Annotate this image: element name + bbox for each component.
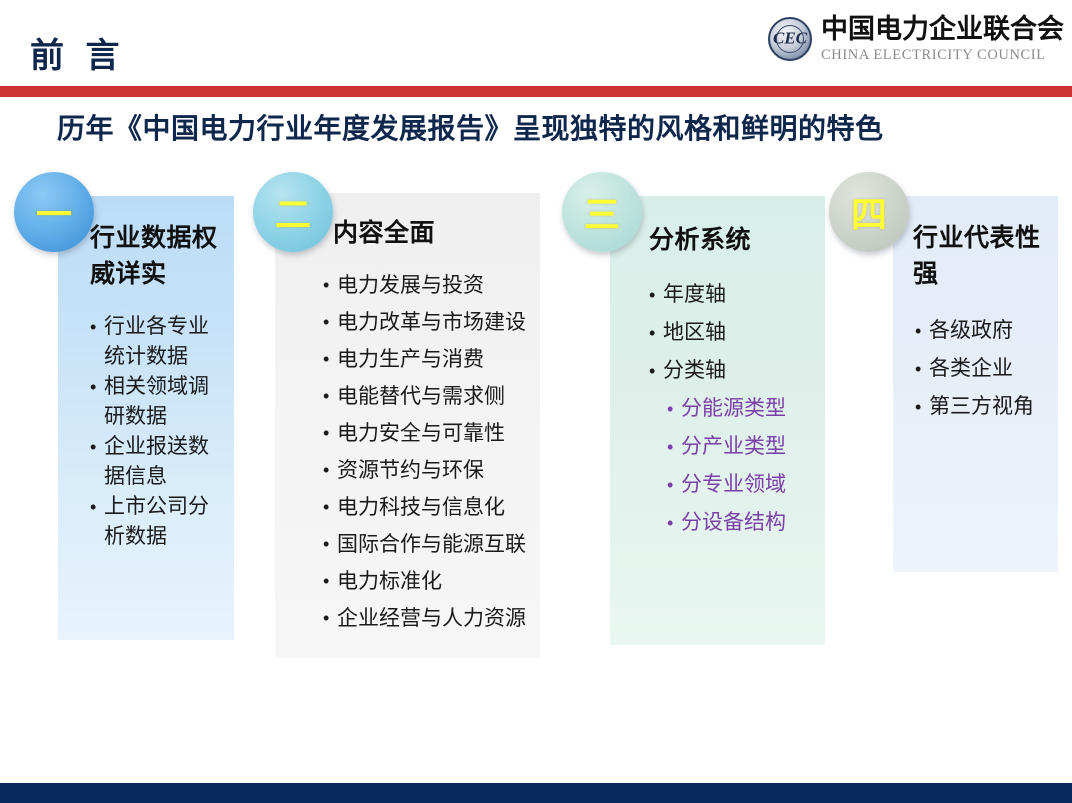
list-item: 分类轴	[649, 352, 817, 390]
feature-panel-4: 行业代表性强 各级政府各类企业第三方视角	[893, 196, 1058, 572]
feature-panel-2: 内容全面 电力发展与投资电力改革与市场建设电力生产与消费电能替代与需求侧电力安全…	[275, 193, 540, 658]
list-item: 电力标准化	[323, 563, 532, 600]
list-item: 企业报送数据信息	[90, 432, 226, 492]
list-item: 资源节约与环保	[323, 452, 532, 489]
list-item: 电力生产与消费	[323, 341, 532, 378]
logo-text: 中国电力企业联合会 CHINA ELECTRICITY COUNCIL	[821, 14, 1064, 64]
number-badge-4: 四	[829, 172, 909, 252]
list-item: 电力改革与市场建设	[323, 304, 532, 341]
logo-name-cn: 中国电力企业联合会	[821, 14, 1064, 44]
list-item: 分设备结构	[649, 504, 817, 542]
header-red-divider	[0, 86, 1072, 97]
list-item: 电能替代与需求侧	[323, 378, 532, 415]
feature-bullets-4: 各级政府各类企业第三方视角	[893, 292, 1058, 426]
list-item: 行业各专业统计数据	[90, 312, 226, 372]
cec-emblem-icon: CEC	[768, 17, 812, 61]
feature-panel-1: 行业数据权威详实 行业各专业统计数据相关领域调研数据企业报送数据信息上市公司分析…	[58, 196, 234, 640]
list-item: 电力发展与投资	[323, 267, 532, 304]
footer-bar	[0, 783, 1072, 803]
list-item: 国际合作与能源互联	[323, 526, 532, 563]
number-badge-3: 三	[562, 172, 642, 252]
list-item: 相关领域调研数据	[90, 372, 226, 432]
list-item: 分产业类型	[649, 428, 817, 466]
list-item: 上市公司分析数据	[90, 492, 226, 552]
number-badge-2: 二	[253, 172, 333, 252]
list-item: 企业经营与人力资源	[323, 600, 532, 637]
number-badge-1: 一	[14, 172, 94, 252]
list-item: 分专业领域	[649, 466, 817, 504]
list-item: 电力科技与信息化	[323, 489, 532, 526]
page-title: 前 言	[30, 28, 125, 77]
emblem-glyph: CEC	[770, 29, 810, 49]
feature-panel-3: 分析系统 年度轴地区轴分类轴分能源类型分产业类型分专业领域分设备结构	[610, 196, 825, 645]
logo-name-en: CHINA ELECTRICITY COUNCIL	[821, 46, 1064, 64]
feature-bullets-3: 年度轴地区轴分类轴分能源类型分产业类型分专业领域分设备结构	[610, 258, 825, 542]
list-item: 各类企业	[915, 350, 1054, 388]
list-item: 年度轴	[649, 276, 817, 314]
slide-header: 前 言 CEC 中国电力企业联合会 CHINA ELECTRICITY COUN…	[0, 0, 1072, 86]
list-item: 各级政府	[915, 312, 1054, 350]
list-item: 地区轴	[649, 314, 817, 352]
feature-bullets-2: 电力发展与投资电力改革与市场建设电力生产与消费电能替代与需求侧电力安全与可靠性资…	[275, 251, 540, 637]
list-item: 第三方视角	[915, 388, 1054, 426]
slide-subtitle: 历年《中国电力行业年度发展报告》呈现独特的风格和鲜明的特色	[57, 107, 884, 147]
feature-title-4: 行业代表性强	[893, 196, 1058, 292]
feature-bullets-1: 行业各专业统计数据相关领域调研数据企业报送数据信息上市公司分析数据	[58, 292, 234, 552]
feature-title-3: 分析系统	[610, 196, 825, 258]
list-item: 电力安全与可靠性	[323, 415, 532, 452]
organization-logo: CEC 中国电力企业联合会 CHINA ELECTRICITY COUNCIL	[768, 14, 1064, 64]
slide-root: 前 言 CEC 中国电力企业联合会 CHINA ELECTRICITY COUN…	[0, 0, 1072, 803]
list-item: 分能源类型	[649, 390, 817, 428]
